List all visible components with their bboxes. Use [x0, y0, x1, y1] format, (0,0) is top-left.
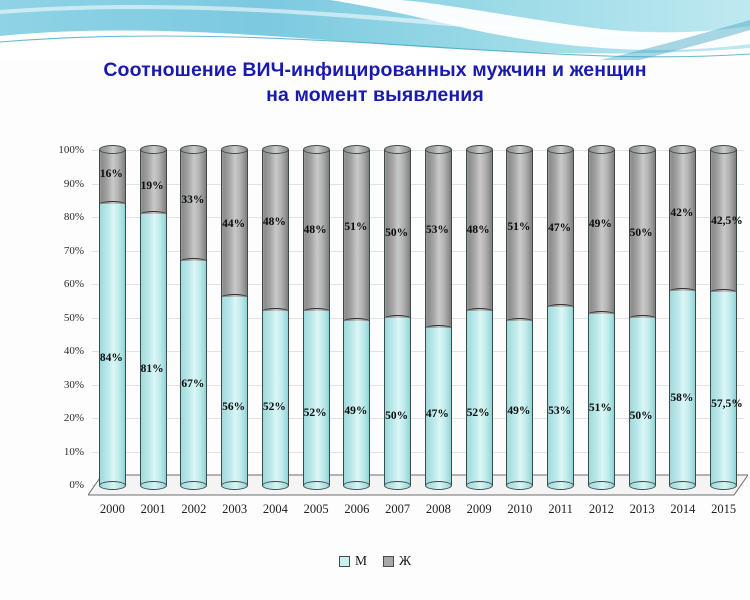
bar-group[interactable] [588, 150, 615, 485]
y-tick-label: 40% [64, 345, 84, 357]
bar-label-female: 19% [141, 180, 164, 192]
cylinder-top-cap [629, 145, 656, 154]
segment-divider [547, 304, 574, 311]
cylinder-top-cap [303, 145, 330, 154]
y-tick-label: 0% [69, 479, 84, 491]
x-tick-label: 2004 [263, 502, 288, 517]
bar-label-female: 47% [548, 222, 571, 234]
cylinder-bottom-cap [588, 481, 615, 490]
bar-group[interactable] [506, 150, 533, 485]
cylinder-top-cap [425, 145, 452, 154]
bar-label-male: 52% [467, 407, 490, 419]
bar-label-male: 81% [141, 363, 164, 375]
bar-label-male: 49% [344, 405, 367, 417]
legend-label-male: М [355, 553, 367, 569]
bar-label-female: 48% [263, 216, 286, 228]
cylinder-bottom-cap [384, 481, 411, 490]
y-tick-label: 50% [64, 312, 84, 324]
bar-label-male: 52% [304, 407, 327, 419]
x-tick-label: 2007 [385, 502, 410, 517]
segment-divider [425, 325, 452, 332]
bar-label-female: 42% [670, 207, 693, 219]
x-tick-label: 2000 [100, 502, 125, 517]
cylinder-top-cap [384, 145, 411, 154]
header-decoration [0, 0, 750, 60]
bar-segment-female[interactable] [669, 150, 696, 291]
bar-group[interactable] [99, 150, 126, 485]
bars-layer: 16%84%19%81%33%67%44%56%48%52%48%52%51%4… [92, 150, 744, 485]
bar-label-male: 53% [548, 405, 571, 417]
x-tick-label: 2014 [670, 502, 695, 517]
bar-group[interactable] [547, 150, 574, 485]
cylinder-bottom-cap [547, 481, 574, 490]
cylinder-top-cap [343, 145, 370, 154]
y-tick-label: 10% [64, 446, 84, 458]
cylinder-top-cap [710, 145, 737, 154]
cylinder-top-cap [99, 145, 126, 154]
segment-divider [343, 318, 370, 325]
bar-group[interactable] [262, 150, 289, 485]
x-axis: 2000200120022003200420052006200720082009… [92, 502, 744, 524]
y-tick-label: 60% [64, 278, 84, 290]
bar-label-female: 16% [100, 168, 123, 180]
legend-swatch-female [383, 556, 394, 567]
bar-group[interactable] [425, 150, 452, 485]
bar-segment-male[interactable] [221, 297, 248, 485]
bar-label-female: 33% [181, 194, 204, 206]
bar-segment-female[interactable] [588, 150, 615, 314]
cylinder-bottom-cap [303, 481, 330, 490]
bar-label-male: 49% [507, 405, 530, 417]
segment-divider [303, 308, 330, 315]
segment-divider [262, 308, 289, 315]
bar-segment-male[interactable] [629, 318, 656, 486]
bar-group[interactable] [343, 150, 370, 485]
cylinder-top-cap [588, 145, 615, 154]
bar-segment-male[interactable] [425, 328, 452, 485]
bar-label-female: 49% [589, 218, 612, 230]
bar-label-male: 58% [670, 392, 693, 404]
bar-label-male: 50% [385, 410, 408, 422]
x-tick-label: 2015 [711, 502, 736, 517]
cylinder-top-cap [466, 145, 493, 154]
bar-segment-female[interactable] [425, 150, 452, 328]
cylinder-top-cap [262, 145, 289, 154]
header-swoosh-icon [0, 0, 750, 60]
legend-item-female[interactable]: Ж [383, 553, 411, 569]
bar-segment-male[interactable] [669, 291, 696, 485]
x-tick-label: 2002 [181, 502, 206, 517]
bar-segment-male[interactable] [262, 311, 289, 485]
bar-label-female: 51% [507, 221, 530, 233]
chart-title: Соотношение ВИЧ-инфицированных мужчин и … [0, 58, 750, 108]
x-tick-label: 2005 [304, 502, 329, 517]
legend-label-female: Ж [399, 553, 411, 569]
bar-label-male: 84% [100, 352, 123, 364]
bar-group[interactable] [710, 150, 737, 485]
bar-segment-male[interactable] [343, 321, 370, 485]
segment-divider [99, 201, 126, 208]
cylinder-bottom-cap [629, 481, 656, 490]
bar-group[interactable] [384, 150, 411, 485]
bar-label-male: 50% [630, 410, 653, 422]
y-tick-label: 20% [64, 412, 84, 424]
x-tick-label: 2008 [426, 502, 451, 517]
cylinder-top-cap [669, 145, 696, 154]
bar-label-male: 52% [263, 401, 286, 413]
cylinder-bottom-cap [710, 481, 737, 490]
x-tick-label: 2006 [344, 502, 369, 517]
y-tick-label: 70% [64, 245, 84, 257]
segment-divider [669, 288, 696, 295]
segment-divider [466, 308, 493, 315]
cylinder-top-cap [506, 145, 533, 154]
x-tick-label: 2012 [589, 502, 614, 517]
bar-group[interactable] [221, 150, 248, 485]
chart-plot-area: 0%10%20%30%40%50%60%70%80%90%100% 16%84%… [0, 130, 750, 550]
bar-label-male: 56% [222, 401, 245, 413]
bar-label-female: 50% [385, 227, 408, 239]
cylinder-bottom-cap [262, 481, 289, 490]
cylinder-top-cap [547, 145, 574, 154]
x-tick-label: 2009 [467, 502, 492, 517]
segment-divider [384, 315, 411, 322]
x-tick-label: 2003 [222, 502, 247, 517]
cylinder-top-cap [221, 145, 248, 154]
bar-segment-female[interactable] [262, 150, 289, 311]
bar-segment-male[interactable] [99, 204, 126, 485]
cylinder-bottom-cap [425, 481, 452, 490]
bar-group[interactable] [669, 150, 696, 485]
bar-label-female: 48% [304, 224, 327, 236]
segment-divider [221, 294, 248, 301]
bar-label-female: 42,5% [711, 215, 743, 227]
x-tick-label: 2010 [507, 502, 532, 517]
y-tick-label: 30% [64, 379, 84, 391]
segment-divider [506, 318, 533, 325]
cylinder-top-cap [140, 145, 167, 154]
y-tick-label: 90% [64, 178, 84, 190]
bar-label-male: 47% [426, 408, 449, 420]
bar-label-female: 51% [344, 221, 367, 233]
bar-group[interactable] [303, 150, 330, 485]
bar-label-male: 67% [181, 378, 204, 390]
bar-label-male: 51% [589, 402, 612, 414]
bar-label-female: 44% [222, 218, 245, 230]
x-tick-label: 2011 [548, 502, 573, 517]
bar-label-female: 50% [630, 227, 653, 239]
y-tick-label: 100% [58, 144, 84, 156]
segment-divider [629, 315, 656, 322]
segment-divider [710, 289, 737, 296]
bar-segment-male[interactable] [303, 311, 330, 485]
bar-group[interactable] [629, 150, 656, 485]
bar-segment-male[interactable] [466, 311, 493, 485]
cylinder-bottom-cap [99, 481, 126, 490]
bar-segment-male[interactable] [140, 214, 167, 485]
bar-segment-female[interactable] [506, 150, 533, 321]
segment-divider [588, 311, 615, 318]
segment-divider [140, 211, 167, 218]
bar-group[interactable] [140, 150, 167, 485]
bar-segment-male[interactable] [180, 261, 207, 485]
bar-segment-female[interactable] [343, 150, 370, 321]
legend-swatch-male [339, 556, 350, 567]
cylinder-bottom-cap [466, 481, 493, 490]
bar-segment-male[interactable] [384, 318, 411, 486]
bar-segment-male[interactable] [710, 292, 737, 485]
bar-group[interactable] [466, 150, 493, 485]
y-axis: 0%10%20%30%40%50%60%70%80%90%100% [0, 130, 92, 485]
bar-label-female: 53% [426, 224, 449, 236]
bar-segment-male[interactable] [588, 314, 615, 485]
y-tick-label: 80% [64, 211, 84, 223]
segment-divider [180, 258, 207, 265]
x-tick-label: 2001 [141, 502, 166, 517]
legend-item-male[interactable]: М [339, 553, 367, 569]
x-tick-label: 2013 [630, 502, 655, 517]
chart-legend: М Ж [0, 553, 750, 569]
bar-segment-male[interactable] [547, 307, 574, 485]
bar-segment-male[interactable] [506, 321, 533, 485]
bar-label-female: 48% [467, 224, 490, 236]
cylinder-bottom-cap [221, 481, 248, 490]
cylinder-top-cap [180, 145, 207, 154]
cylinder-bottom-cap [140, 481, 167, 490]
bar-label-male: 57,5% [711, 398, 743, 410]
